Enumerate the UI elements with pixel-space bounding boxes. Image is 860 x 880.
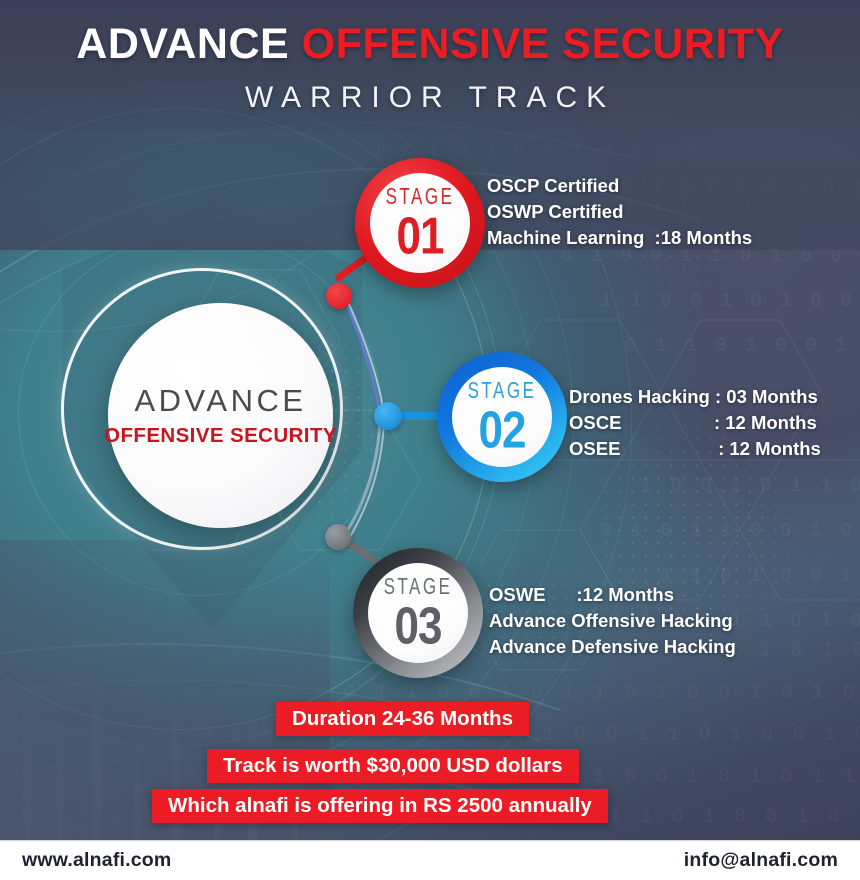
infographic-poster: 1 0 1 1 0 1 0 1 0 0 1 1 0 1 0 0 1 0 0 1 …: [0, 0, 860, 880]
connector-node-stage2: [374, 402, 402, 430]
footer-website[interactable]: www.alnafi.com: [22, 849, 171, 872]
connector-node-stage1: [326, 283, 352, 309]
center-title-line2: OFFENSIVE SECURITY: [104, 426, 337, 447]
connector-node-stage3: [325, 524, 351, 550]
stage-03-inner: STAGE 03: [368, 563, 468, 663]
stage-01-inner: STAGE 01: [370, 173, 470, 273]
stage-01-number: 01: [397, 212, 444, 261]
footer-bar: www.alnafi.com info@alnafi.com: [0, 840, 860, 880]
title-white-part: ADVANCE: [76, 20, 289, 68]
stage-03-number: 03: [395, 602, 442, 651]
stage-circle-03[interactable]: STAGE 03: [353, 548, 483, 678]
center-title-line1: ADVANCE: [134, 385, 306, 416]
stage-02-details: Drones Hacking : 03 Months OSCE : 12 Mon…: [569, 384, 821, 462]
stage-01-details: OSCP Certified OSWP Certified Machine Le…: [487, 173, 752, 251]
stage-03-details: OSWE :12 Months Advance Offensive Hackin…: [489, 582, 736, 660]
stage-02-inner: STAGE 02: [452, 367, 552, 467]
page-title: ADVANCE OFFENSIVE SECURITY: [0, 22, 860, 67]
center-badge: ADVANCE OFFENSIVE SECURITY: [108, 303, 333, 528]
stage-03-label: STAGE: [384, 575, 453, 598]
stage-02-label: STAGE: [468, 379, 537, 402]
banner-track-worth: Track is worth $30,000 USD dollars: [207, 749, 579, 783]
stage-02-number: 02: [479, 406, 526, 455]
footer-email[interactable]: info@alnafi.com: [684, 849, 838, 872]
title-red-part: OFFENSIVE SECURITY: [302, 20, 784, 68]
stage-circle-01[interactable]: STAGE 01: [355, 158, 485, 288]
poster-header: ADVANCE OFFENSIVE SECURITY WARRIOR TRACK: [0, 22, 860, 115]
banner-offer-price: Which alnafi is offering in RS 2500 annu…: [152, 789, 608, 823]
page-subtitle: WARRIOR TRACK: [0, 81, 860, 115]
stage-01-label: STAGE: [386, 185, 455, 208]
banner-duration: Duration 24-36 Months: [276, 702, 529, 736]
stage-circle-02[interactable]: STAGE 02: [437, 352, 567, 482]
